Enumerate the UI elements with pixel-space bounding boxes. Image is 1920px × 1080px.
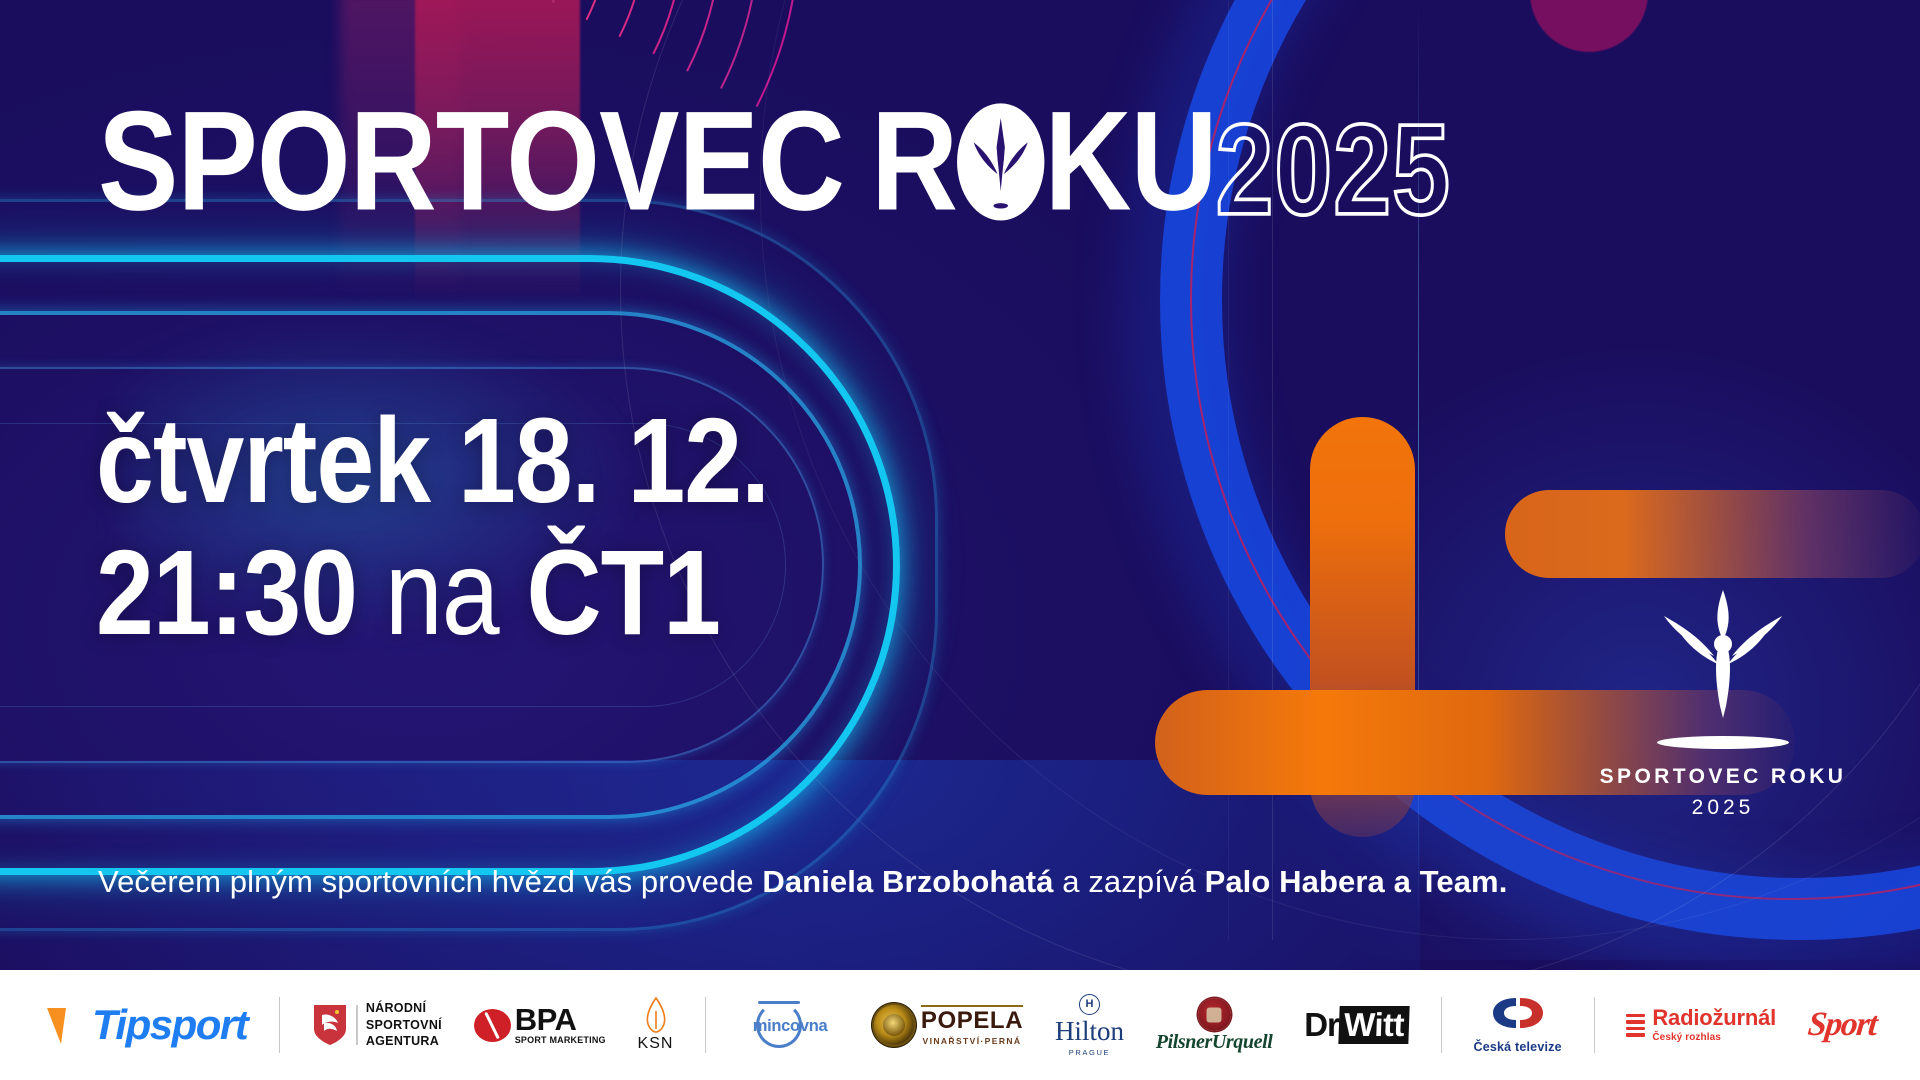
event-channel: ČT1 — [526, 526, 719, 661]
host-announcement: Večerem plným sportovních hvězd vás prov… — [98, 864, 1507, 900]
sponsor-logo-ksn[interactable]: KSN — [638, 997, 674, 1053]
host-prefix: Večerem plným sportovních hvězd vás prov… — [98, 864, 762, 899]
sponsor-logo-ceska-televize[interactable]: Česká televize — [1473, 996, 1561, 1054]
lockup-year: 2025 — [1590, 796, 1856, 820]
radiozurnal-wordmark: Radiožurnál — [1652, 1007, 1776, 1029]
czech-lion-shield-icon — [312, 1003, 348, 1047]
sponsor-logo-bpa[interactable]: BPA SPORT MARKETING — [474, 1005, 606, 1045]
nsa-line-1: NÁRODNÍ — [366, 1000, 442, 1017]
sponsor-divider — [1594, 997, 1595, 1053]
sportovec-roku-logo-lockup: SPORTOVEC ROKU 2025 — [1590, 586, 1856, 820]
orange-bar-right — [1505, 490, 1920, 578]
bpa-wordmark: BPA — [515, 1005, 606, 1034]
title-text: SPORTOVECR KU — [98, 96, 1217, 226]
sponsor-logo-popela[interactable]: POPELA VINAŘSTVÍ·PERNÁ — [874, 1005, 1023, 1046]
performer-name: Palo Habera a Team. — [1205, 864, 1508, 899]
title-word-roku-r: R — [871, 81, 957, 240]
hilton-wordmark: Hilton — [1055, 1018, 1124, 1045]
nsa-wordmark: NÁRODNÍ SPORTOVNÍ AGENTURA — [366, 1000, 442, 1050]
sponsor-logo-sport[interactable]: Sport — [1808, 1006, 1876, 1044]
ceska-televize-wordmark: Česká televize — [1473, 1040, 1561, 1054]
mincovna-wordmark: mincovna — [738, 1017, 842, 1036]
banner-title: SPORTOVECR KU 2025 — [98, 96, 1451, 210]
radiozurnal-bars-icon — [1626, 1014, 1645, 1037]
pilsner-wordmark: PilsnerUrquell — [1156, 1032, 1273, 1052]
mincovna-bar-icon — [758, 1001, 800, 1004]
hilton-badge-icon: H — [1079, 994, 1100, 1015]
event-time-preposition: na — [357, 526, 526, 661]
hilton-location: PRAGUE — [1055, 1048, 1124, 1057]
title-word-sportovec: SPORTOVEC — [98, 81, 844, 240]
event-date: čtvrtek 18. 12. — [96, 400, 769, 523]
host-middle: a zazpívá — [1054, 864, 1205, 899]
sponsor-logo-hilton[interactable]: H Hilton PRAGUE — [1055, 994, 1124, 1057]
ceska-televize-icon — [1489, 996, 1547, 1030]
sponsor-logo-mincovna[interactable]: mincovna — [738, 1000, 842, 1050]
sponsor-logo-tipsport[interactable]: Tipsport — [44, 1001, 247, 1049]
sponsor-logo-pilsner-urquell[interactable]: PilsnerUrquell — [1156, 998, 1273, 1052]
event-date-block: čtvrtek 18. 12. 21:30 na ČT1 — [96, 400, 769, 638]
popela-sun-icon — [874, 1005, 914, 1045]
tipsport-wordmark: Tipsport — [92, 1001, 247, 1049]
sponsor-logo-nsa[interactable]: NÁRODNÍ SPORTOVNÍ AGENTURA — [312, 1000, 442, 1050]
popela-wordmark: POPELA — [921, 1009, 1023, 1033]
event-time-channel: 21:30 na ČT1 — [96, 532, 769, 655]
athlete-figure-icon — [971, 116, 1031, 211]
title-word-roku-ku: KU — [1044, 81, 1216, 240]
event-time: 21:30 — [96, 526, 357, 661]
logo-pedestal — [1657, 736, 1789, 749]
radiozurnal-parent: Český rozhlas — [1652, 1032, 1776, 1043]
drwitt-witt-text: Witt — [1338, 1006, 1409, 1044]
popela-tagline: VINAŘSTVÍ·PERNÁ — [921, 1036, 1023, 1046]
sponsor-divider — [1441, 997, 1442, 1053]
sponsor-divider — [705, 997, 706, 1053]
title-year: 2025 — [1216, 106, 1451, 235]
athlete-trophy-icon — [1658, 586, 1788, 734]
promo-banner: SPORTOVECR KU 2025 čtvrtek 18. 12. 21:30… — [0, 0, 1920, 1080]
sponsor-logo-radiozurnal[interactable]: Radiožurnál Český rozhlas — [1626, 1007, 1776, 1043]
sport-wordmark: Sport — [1806, 1006, 1878, 1044]
sponsor-logo-drwitt[interactable]: Dr Witt — [1304, 1006, 1409, 1044]
lockup-name: SPORTOVEC ROKU — [1590, 765, 1856, 789]
sponsor-bar: Tipsport NÁRODNÍ SPORTOVNÍ AGENTURA — [0, 970, 1920, 1080]
bpa-ball-icon — [474, 1009, 511, 1042]
ksn-wordmark: KSN — [638, 1035, 674, 1053]
bpa-tagline: SPORT MARKETING — [515, 1035, 606, 1045]
host-name: Daniela Brzobohatá — [762, 864, 1053, 899]
nsa-line-2: SPORTOVNÍ — [366, 1017, 442, 1034]
ksn-flame-icon — [645, 997, 667, 1033]
nsa-rule — [356, 1005, 358, 1045]
nsa-line-3: AGENTURA — [366, 1033, 442, 1050]
sponsor-divider — [279, 997, 280, 1053]
pilsner-seal-icon — [1198, 998, 1231, 1031]
tipsport-check-icon — [44, 1002, 90, 1048]
drwitt-dr-text: Dr — [1304, 1006, 1339, 1044]
